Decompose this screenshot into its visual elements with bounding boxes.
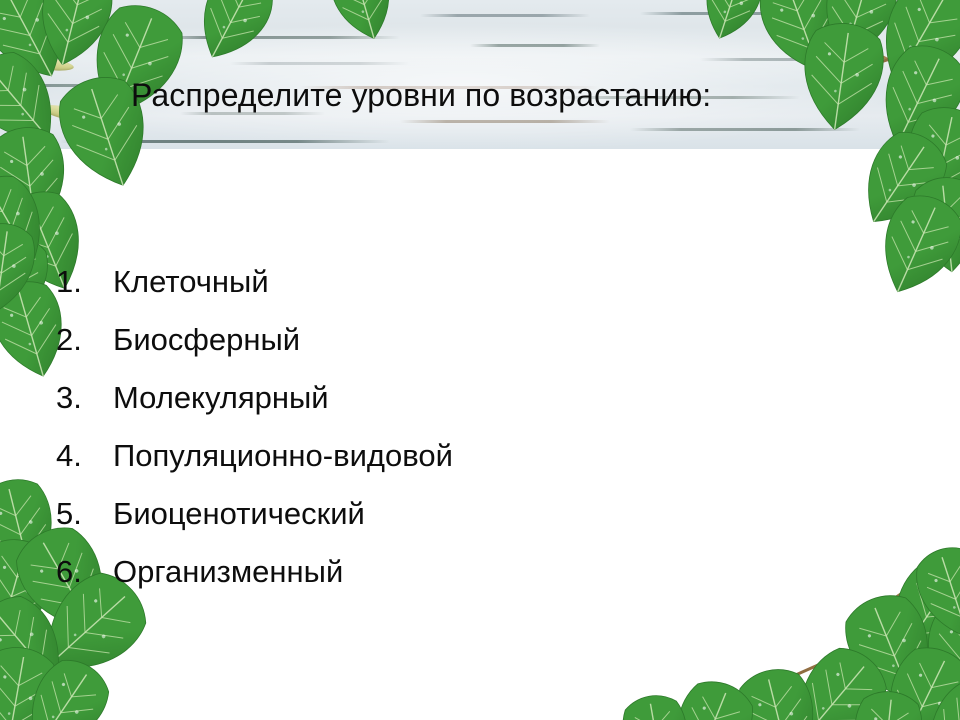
bark-stroke	[60, 140, 390, 143]
list-item-label: Биоценотический	[113, 496, 365, 532]
birch-leaf-icon	[0, 229, 59, 335]
list-item-label: Клеточный	[113, 264, 269, 300]
list-item: 4.Популяционно-видовой	[56, 438, 453, 496]
slide-canvas: Распределите уровни по возрастанию: 1.Кл…	[0, 0, 960, 720]
list-item-number: 2.	[56, 322, 113, 358]
watermark	[862, 244, 914, 278]
birch-leaf-icon	[0, 641, 68, 720]
bark-stroke	[0, 18, 120, 21]
birch-leaf-icon	[861, 634, 960, 720]
catkin-icon	[0, 502, 47, 523]
birch-leaf-icon	[912, 597, 960, 710]
bark-stroke	[0, 84, 105, 87]
levels-list: 1.Клеточный2.Биосферный3.Молекулярный4.П…	[56, 264, 453, 612]
catkin-icon	[898, 586, 960, 622]
list-item-number: 4.	[56, 438, 113, 474]
list-item-number: 3.	[56, 380, 113, 416]
list-item-number: 1.	[56, 264, 113, 300]
list-item-label: Биосферный	[113, 322, 300, 358]
bark-stroke	[470, 44, 600, 47]
twig-icon	[789, 623, 909, 679]
birch-leaf-icon	[843, 688, 930, 720]
bark-stroke	[640, 12, 830, 15]
list-item-number: 6.	[56, 554, 113, 590]
catkin-icon	[820, 680, 883, 709]
list-item: 3.Молекулярный	[56, 380, 453, 438]
bark-stroke	[400, 120, 610, 123]
list-item: 6.Организменный	[56, 554, 453, 612]
birch-leaf-icon	[904, 539, 960, 650]
birch-leaf-icon	[864, 544, 960, 679]
list-item-number: 5.	[56, 496, 113, 532]
list-item: 5.Биоценотический	[56, 496, 453, 554]
birch-leaf-icon	[0, 219, 44, 316]
list-item-label: Молекулярный	[113, 380, 329, 416]
bark-stroke	[700, 58, 900, 61]
bark-stroke	[230, 62, 410, 65]
birch-leaf-icon	[652, 670, 767, 720]
page-title: Распределите уровни по возрастанию:	[131, 76, 711, 114]
birch-leaf-icon	[829, 583, 955, 718]
birch-leaf-icon	[613, 690, 702, 720]
bark-stroke	[630, 128, 860, 131]
bark-banner	[0, 0, 960, 149]
twig-icon	[859, 553, 960, 623]
list-item: 2.Биосферный	[56, 322, 453, 380]
birch-leaf-icon	[725, 661, 833, 720]
birch-leaf-icon	[769, 632, 903, 720]
bark-stroke	[420, 14, 590, 17]
list-item-label: Популяционно-видовой	[113, 438, 453, 474]
list-item: 1.Клеточный	[56, 264, 453, 322]
birch-leaf-icon	[4, 646, 124, 720]
list-item-label: Организменный	[113, 554, 343, 590]
bark-stroke	[150, 36, 400, 39]
birch-leaf-icon	[902, 664, 960, 720]
